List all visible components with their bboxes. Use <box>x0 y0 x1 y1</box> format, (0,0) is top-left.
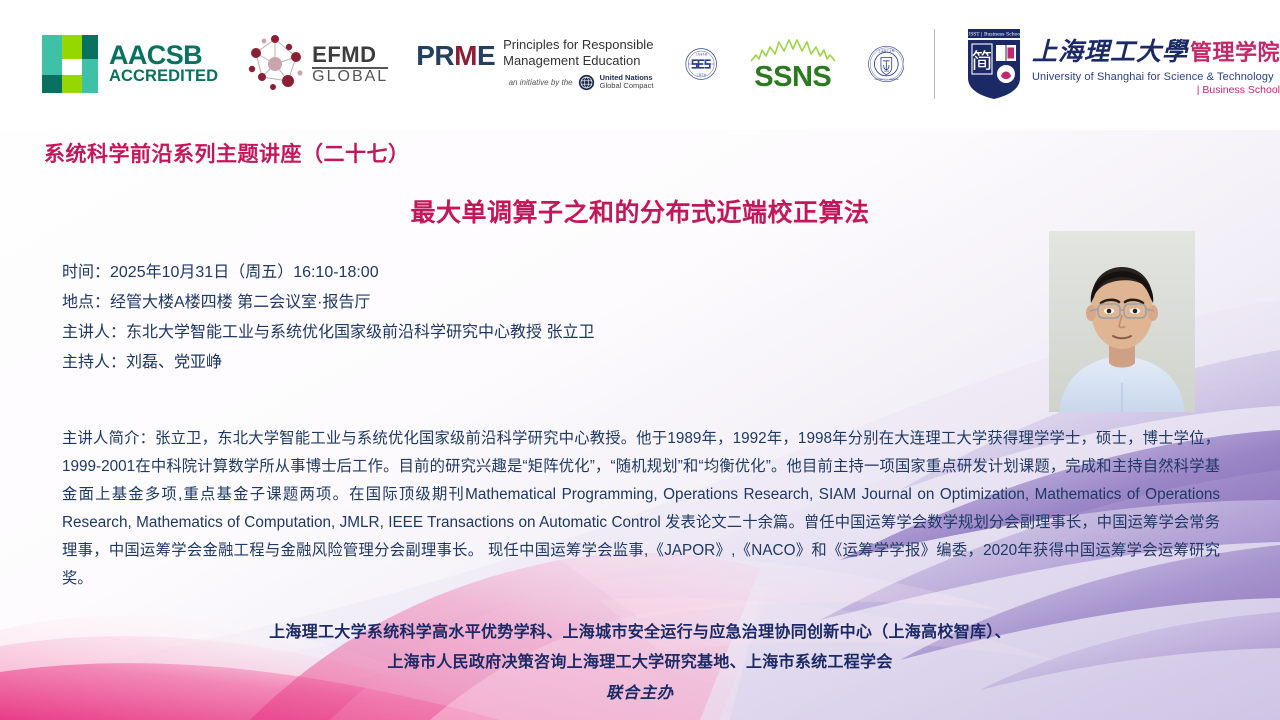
efmd-sublabel: GLOBAL <box>312 69 388 85</box>
usst-business-school-shield-icon: USST | Business School 简 <box>965 28 1023 100</box>
info-time: 时间：2025年10月31日（周五）16:10-18:00 <box>62 258 594 288</box>
usst-university-seal-icon: 1906 上海理工大學 UNIVERSITY OF SHANGHAI <box>868 30 905 98</box>
series-title: 系统科学前沿系列主题讲座（二十七） <box>44 138 410 168</box>
un-label-2: Global Compact <box>600 82 654 90</box>
logo-divider <box>934 29 935 99</box>
logo-prme: PRME Principles for Responsible Manageme… <box>416 37 653 91</box>
svg-text:工程学会: 工程学会 <box>697 72 707 76</box>
page-title: 最大单调算子之和的分布式近端校正算法 <box>0 193 1280 229</box>
ses-emblem-icon: 上海市系统 工程学会 <box>685 34 717 94</box>
event-info-block: 时间：2025年10月31日（周五）16:10-18:00 地点：经管大楼A楼四… <box>62 258 594 378</box>
aacsb-sublabel: ACCREDITED <box>109 69 218 85</box>
aacsb-label: AACSB <box>109 43 218 69</box>
prme-initiative-text: an initiative by the <box>509 78 573 87</box>
prme-tagline-2: Management Education <box>503 53 653 68</box>
organizer-line-2: 上海市人民政府决策咨询上海理工大学研究基地、上海市系统工程学会 <box>0 648 1280 678</box>
usst-en-school: | Business School <box>1032 84 1280 96</box>
logo-efmd: EFMD GLOBAL <box>244 33 388 95</box>
svg-text:上海市系统: 上海市系统 <box>695 52 708 56</box>
speaker-portrait <box>1049 231 1195 412</box>
svg-text:上海理工大學: 上海理工大學 <box>878 49 894 53</box>
svg-text:简: 简 <box>971 49 992 73</box>
svg-text:UNIVERSITY OF SHANGHAI: UNIVERSITY OF SHANGHAI <box>874 78 899 81</box>
organizer-joint-label: 联合主办 <box>0 678 1280 710</box>
info-speaker: 主讲人：东北大学智能工业与系统优化国家级前沿科学研究中心教授 张立卫 <box>62 318 594 348</box>
logo-ssns: SSNS <box>748 37 838 92</box>
prme-word-m: M <box>454 40 477 71</box>
ssns-crown-icon <box>748 37 838 63</box>
un-global-compact-lockup: an initiative by the United Nations Glob… <box>503 74 653 91</box>
prme-word-e: E <box>477 40 495 71</box>
portrait-photo <box>1049 231 1195 412</box>
speaker-biography: 主讲人简介：张立卫，东北大学智能工业与系统优化国家级前沿科学研究中心教授。他于1… <box>62 425 1220 593</box>
aacsb-square-icon <box>40 33 100 95</box>
info-host: 主持人：刘磊、党亚峥 <box>62 348 594 378</box>
usst-cn-school: 管理学院 <box>1190 35 1280 67</box>
efmd-network-icon <box>244 33 306 95</box>
un-globe-icon <box>578 74 595 91</box>
efmd-label: EFMD <box>312 44 388 69</box>
accreditation-logo-bar: AACSB ACCREDITED <box>0 0 1280 128</box>
svg-text:USST | Business School: USST | Business School <box>966 32 1022 38</box>
ssns-label: SSNS <box>754 63 831 92</box>
prme-tagline-1: Principles for Responsible <box>503 37 653 52</box>
biography-text: 主讲人简介：张立卫，东北大学智能工业与系统优化国家级前沿科学研究中心教授。他于1… <box>62 425 1220 593</box>
logo-usst-business-school: USST | Business School 简 上海理工大學 管理学院 Uni… <box>965 28 1280 100</box>
logo-aacsb: AACSB ACCREDITED <box>40 33 218 95</box>
prme-wordmark: PRME <box>416 37 495 70</box>
svg-text:1906: 1906 <box>883 70 889 73</box>
info-location: 地点：经管大楼A楼四楼 第二会议室·报告厅 <box>62 288 594 318</box>
organizers-block: 上海理工大学系统科学高水平优势学科、上海城市安全运行与应急治理协同创新中心（上海… <box>0 618 1280 710</box>
usst-cn-name: 上海理工大學 <box>1032 32 1188 68</box>
usst-en-name: University of Shanghai for Science & Tec… <box>1032 71 1280 83</box>
prme-word-pr: PR <box>416 40 454 71</box>
organizer-line-1: 上海理工大学系统科学高水平优势学科、上海城市安全运行与应急治理协同创新中心（上海… <box>0 618 1280 648</box>
seminar-poster: AACSB ACCREDITED <box>0 0 1280 720</box>
